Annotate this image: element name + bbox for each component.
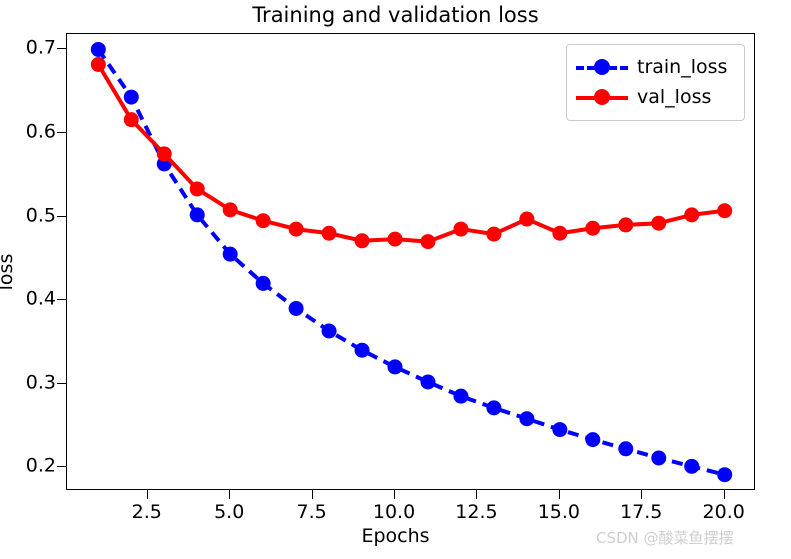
data-point bbox=[256, 213, 271, 228]
data-point bbox=[388, 232, 403, 247]
data-point bbox=[322, 324, 337, 339]
data-point bbox=[190, 181, 205, 196]
x-tick-mark bbox=[476, 490, 477, 499]
data-point bbox=[618, 217, 633, 232]
data-point bbox=[717, 467, 732, 482]
y-tick-mark bbox=[57, 466, 66, 467]
data-point bbox=[355, 233, 370, 248]
data-point bbox=[91, 42, 106, 57]
data-point bbox=[289, 301, 304, 316]
x-tick-label: 7.5 bbox=[272, 501, 352, 523]
data-point bbox=[190, 207, 205, 222]
legend-swatch-train_loss bbox=[576, 56, 628, 78]
x-tick-label: 5.0 bbox=[189, 501, 269, 523]
y-tick-mark bbox=[57, 48, 66, 49]
data-point bbox=[552, 226, 567, 241]
data-point bbox=[519, 212, 534, 227]
data-point bbox=[552, 422, 567, 437]
data-point bbox=[289, 222, 304, 237]
legend-label: val_loss bbox=[637, 86, 711, 108]
legend-item-val_loss: val_loss bbox=[576, 82, 735, 112]
data-point bbox=[223, 247, 238, 262]
data-point bbox=[717, 203, 732, 218]
y-tick-mark bbox=[57, 299, 66, 300]
x-tick-mark bbox=[724, 490, 725, 499]
y-tick-mark bbox=[57, 383, 66, 384]
y-tick-label: 0.3 bbox=[10, 373, 56, 392]
legend-swatch-val_loss bbox=[576, 86, 628, 108]
legend-label: train_loss bbox=[637, 56, 727, 78]
x-tick-label: 10.0 bbox=[354, 501, 434, 523]
x-axis-tick-marks bbox=[66, 490, 755, 499]
x-tick-label: 12.5 bbox=[436, 501, 516, 523]
y-tick-mark bbox=[57, 132, 66, 133]
data-point bbox=[223, 202, 238, 217]
data-point bbox=[124, 90, 139, 105]
legend-item-train_loss: train_loss bbox=[576, 52, 735, 82]
data-point bbox=[486, 400, 501, 415]
data-point bbox=[486, 227, 501, 242]
y-tick-label: 0.5 bbox=[10, 206, 56, 225]
data-point bbox=[420, 234, 435, 249]
data-point bbox=[651, 216, 666, 231]
y-axis-tick-marks bbox=[57, 33, 66, 490]
data-point bbox=[124, 112, 139, 127]
data-point bbox=[684, 207, 699, 222]
data-point bbox=[684, 459, 699, 474]
data-point bbox=[519, 411, 534, 426]
data-point bbox=[453, 222, 468, 237]
x-tick-label: 2.5 bbox=[107, 501, 187, 523]
x-tick-label: 20.0 bbox=[684, 501, 764, 523]
y-tick-label: 0.2 bbox=[10, 457, 56, 476]
x-tick-label: 17.5 bbox=[601, 501, 681, 523]
y-axis-label: loss bbox=[0, 242, 17, 302]
data-point bbox=[585, 221, 600, 236]
x-tick-mark bbox=[641, 490, 642, 499]
x-tick-label: 15.0 bbox=[519, 501, 599, 523]
data-point bbox=[651, 450, 666, 465]
y-tick-label: 0.6 bbox=[10, 123, 56, 142]
data-point bbox=[91, 57, 106, 72]
x-tick-mark bbox=[147, 490, 148, 499]
csdn-watermark: CSDN @酸菜鱼摆摆 bbox=[596, 529, 734, 548]
x-tick-mark bbox=[312, 490, 313, 499]
x-tick-mark bbox=[559, 490, 560, 499]
data-point bbox=[388, 359, 403, 374]
data-point bbox=[585, 432, 600, 447]
x-tick-mark bbox=[229, 490, 230, 499]
data-point bbox=[420, 374, 435, 389]
data-point bbox=[453, 389, 468, 404]
x-axis-tick-labels: 2.55.07.510.012.515.017.520.0 bbox=[66, 501, 755, 525]
data-point bbox=[322, 226, 337, 241]
page-title: Training and validation loss bbox=[0, 2, 791, 28]
data-point bbox=[256, 276, 271, 291]
x-tick-mark bbox=[394, 490, 395, 499]
legend-marker-icon bbox=[594, 89, 610, 105]
data-point bbox=[157, 146, 172, 161]
data-point bbox=[355, 343, 370, 358]
data-point bbox=[618, 441, 633, 456]
y-tick-label: 0.7 bbox=[10, 39, 56, 58]
legend-marker-icon bbox=[594, 59, 610, 75]
y-tick-mark bbox=[57, 216, 66, 217]
matplotlib-figure: Training and validation loss 0.20.30.40.… bbox=[0, 0, 791, 559]
chart-legend: train_lossval_loss bbox=[566, 44, 745, 121]
